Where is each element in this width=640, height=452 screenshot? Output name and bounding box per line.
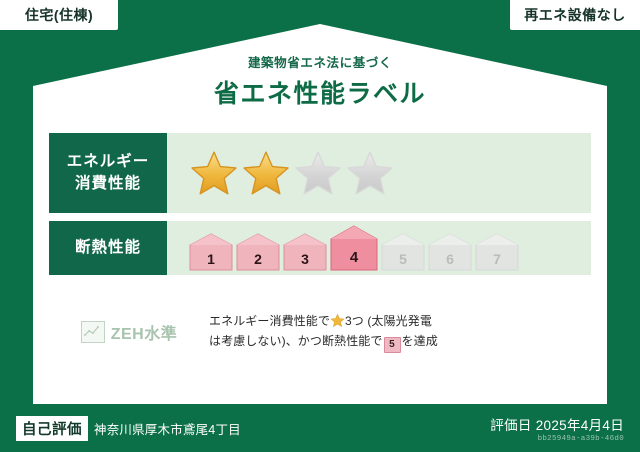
insulation-level-number: 1 [189,251,233,267]
row-label-energy: エネルギー 消費性能 [49,133,167,213]
zeh-section: ZEH水準 エネルギー消費性能で3つ (太陽光発電は考慮しない)、かつ断熱性能で… [49,312,591,353]
row-body-energy [167,133,591,213]
insulation-level-4: 4 [330,225,378,271]
insulation-chip-inline: 5 [384,337,401,353]
evaluation-date-value: 2025年4月4日 [536,418,624,433]
zeh-mark: ZEH水準 [49,320,209,344]
evaluation-info: 評価日 2025年4月4日 bb25949a-a39b-46d0 [490,414,624,443]
star-rating [189,149,395,197]
row-body-insulation: 1234567 [167,221,591,275]
insulation-level-number: 3 [283,251,327,267]
insulation-level-3: 3 [283,233,327,271]
insulation-level-5: 5 [381,233,425,271]
chart-icon [81,321,105,343]
zeh-desc-line2-b: を達成 [402,334,438,348]
star-icon-empty [345,149,395,197]
energy-performance-label: 住宅(住棟) 再エネ設備なし 建築物省エネ法に基づく 省エネ性能ラベル エネルギ… [0,0,640,452]
evaluation-date: 評価日 2025年4月4日 [490,414,624,434]
property-address: 神奈川県厚木市鳶尾4丁目 [94,419,241,438]
insulation-level-number: 7 [475,251,519,267]
badge-building-type: 住宅(住棟) [0,0,118,30]
insulation-level-1: 1 [189,233,233,271]
insulation-level-6: 6 [428,233,472,271]
insulation-level-number: 2 [236,251,280,267]
self-evaluation-badge: 自己評価 [16,416,88,441]
row-insulation: 断熱性能 1234567 [49,221,591,275]
label-footer: 自己評価 神奈川県厚木市鳶尾4丁目 評価日 2025年4月4日 bb25949a… [0,404,640,452]
row-label-insulation: 断熱性能 [49,221,167,275]
zeh-desc-line1-b: 3つ (太陽光発電 [345,314,432,328]
badge-renewable-equipment: 再エネ設備なし [510,0,640,30]
insulation-level-scale: 1234567 [189,225,519,271]
star-icon-filled [189,149,239,197]
performance-rows: エネルギー 消費性能 断熱性能 1234567 [49,133,591,283]
zeh-label: ZEH水準 [111,320,178,344]
zeh-desc-line2-a: は考慮しない)、かつ断熱性能で [209,334,383,348]
row-energy-consumption: エネルギー 消費性能 [49,133,591,213]
insulation-level-number: 5 [381,251,425,267]
star-icon-empty [293,149,343,197]
insulation-level-7: 7 [475,233,519,271]
zeh-description: エネルギー消費性能で3つ (太陽光発電は考慮しない)、かつ断熱性能で5を達成 [209,312,591,353]
row-label-energy-line1: エネルギー [67,153,150,170]
evaluation-id: bb25949a-a39b-46d0 [490,435,624,443]
row-label-energy-line2: 消費性能 [75,175,141,192]
insulation-level-number: 6 [428,251,472,267]
insulation-level-2: 2 [236,233,280,271]
star-icon-filled [241,149,291,197]
star-icon [330,313,345,328]
insulation-level-number: 4 [330,249,378,266]
evaluation-date-label: 評価日 [490,418,531,433]
zeh-desc-line1-a: エネルギー消費性能で [209,314,330,328]
